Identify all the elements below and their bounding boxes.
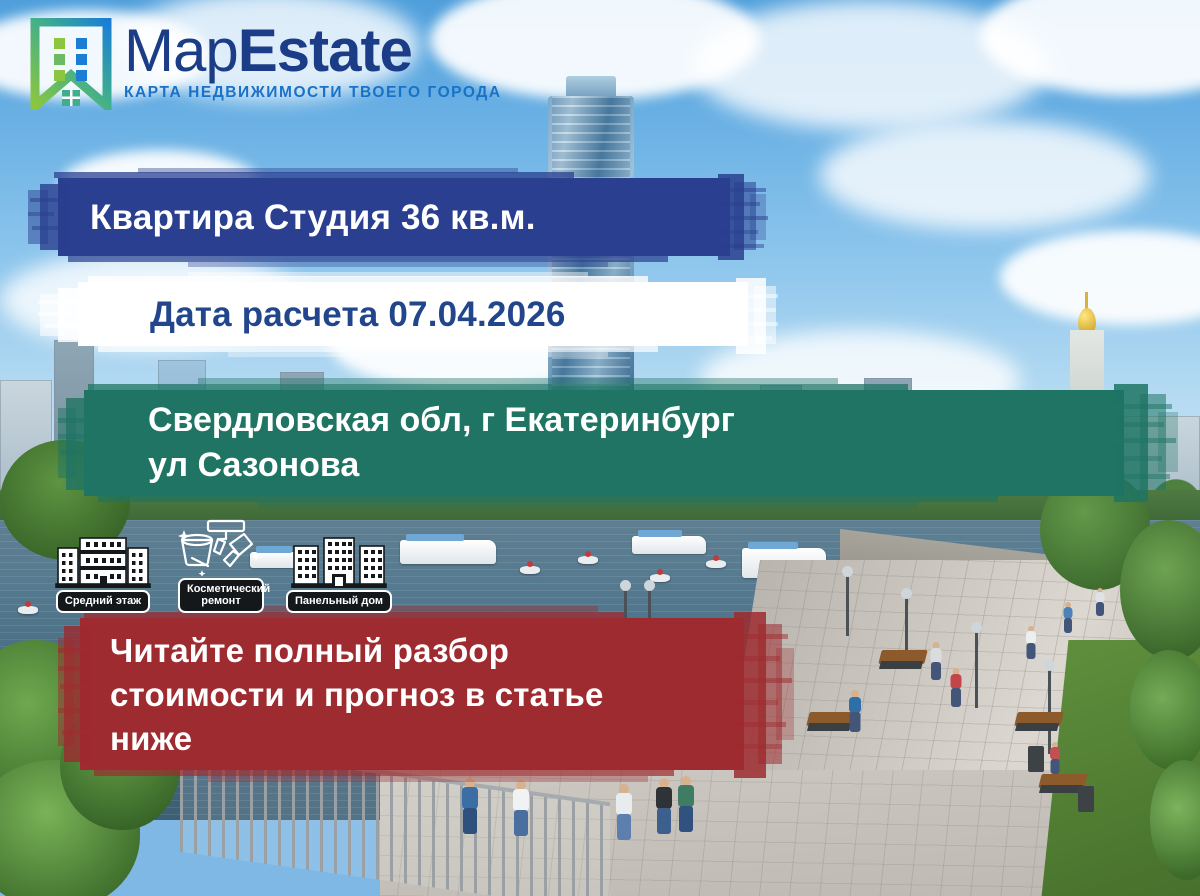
cta-text: Читайте полный разбор стоимости и прогно… — [58, 629, 604, 761]
trash-bin — [1078, 786, 1094, 812]
street-lamp — [975, 630, 978, 708]
mid-rise-building-icon — [54, 532, 152, 588]
badge-label: Косметический ремонт — [178, 578, 264, 613]
pedestrian — [1022, 626, 1040, 664]
paint-roller-bucket-brush-icon — [172, 520, 270, 576]
cta-banner[interactable]: Читайте полный разбор стоимости и прогно… — [58, 604, 798, 786]
address-text: Свердловская обл, г Екатеринбург ул Сазо… — [58, 398, 735, 488]
pedestrian — [946, 668, 966, 712]
pedestrian — [506, 780, 536, 840]
date-text: Дата расчета 07.04.2026 — [38, 295, 566, 335]
pedestrian — [1060, 602, 1076, 636]
property-poster: MapEstate КАРТА НЕДВИЖИМОСТИ ТВОЕГО ГОРО… — [0, 0, 1200, 896]
pleasure-boat — [632, 536, 706, 554]
pedestrian — [926, 642, 946, 684]
cloud — [820, 120, 1150, 230]
small-boat — [520, 566, 540, 574]
pleasure-boat — [400, 540, 496, 564]
brand-text: MapEstate КАРТА НЕДВИЖИМОСТИ ТВОЕГО ГОРО… — [124, 22, 502, 102]
park-bench — [878, 650, 927, 664]
title-banner: Квартира Студия 36 кв.м. — [28, 168, 768, 268]
park-bench — [1014, 712, 1063, 726]
address-line-2: ул Сазонова — [148, 443, 735, 488]
cta-line-3: ниже — [110, 717, 604, 761]
title-text: Квартира Студия 36 кв.м. — [28, 198, 536, 238]
street-lamp — [846, 574, 849, 636]
small-boat — [18, 606, 38, 614]
cta-line-2: стоимости и прогноз в статье — [110, 673, 604, 717]
map-bookmark-building-icon — [30, 18, 112, 110]
badge-panel-house[interactable]: Панельный дом — [284, 532, 394, 612]
panel-apartment-building-icon — [290, 532, 388, 588]
badge-renovation[interactable]: Косметический ремонт — [166, 520, 276, 613]
small-boat — [578, 556, 598, 564]
brand-name-part2: Estate — [238, 17, 412, 84]
brand-logo[interactable]: MapEstate КАРТА НЕДВИЖИМОСТИ ТВОЕГО ГОРО… — [30, 18, 502, 110]
badge-mid-floor[interactable]: Средний этаж — [48, 532, 158, 612]
brand-name-part1: Map — [124, 17, 238, 84]
pedestrian — [844, 690, 866, 736]
pedestrian — [610, 784, 638, 840]
feature-badges: Средний этаж — [48, 520, 394, 613]
address-banner: Свердловская обл, г Екатеринбург ул Сазо… — [58, 378, 1182, 508]
pedestrian — [1092, 588, 1108, 620]
badge-label: Панельный дом — [286, 590, 392, 612]
pedestrian — [455, 778, 485, 838]
brand-tagline: КАРТА НЕДВИЖИМОСТИ ТВОЕГО ГОРОДА — [124, 84, 502, 102]
brand-wordmark: MapEstate — [124, 22, 502, 79]
cta-line-1: Читайте полный разбор — [110, 629, 604, 673]
date-banner: Дата расчета 07.04.2026 — [38, 272, 778, 358]
pedestrian — [1046, 742, 1064, 776]
address-line-1: Свердловская обл, г Екатеринбург — [148, 398, 735, 443]
trash-bin — [1028, 746, 1044, 772]
badge-label: Средний этаж — [56, 590, 150, 612]
small-boat — [706, 560, 726, 568]
